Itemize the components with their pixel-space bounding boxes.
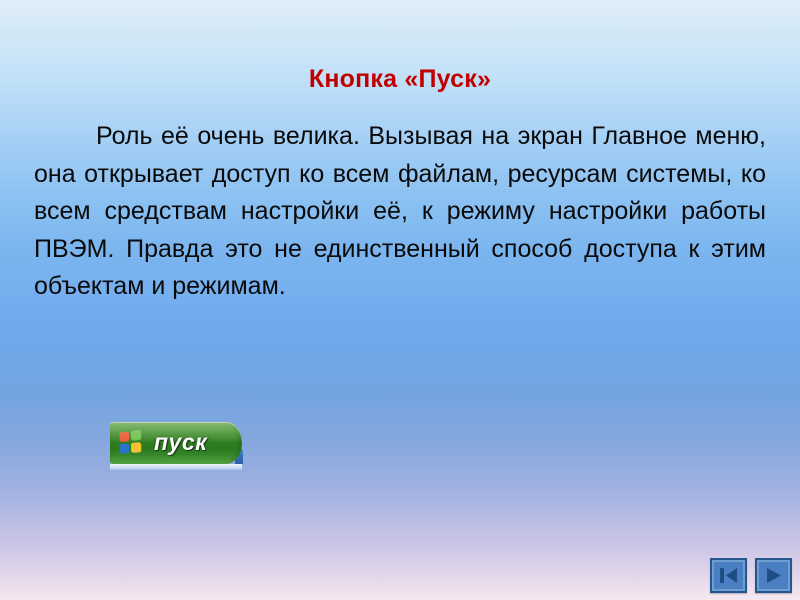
- start-button-label: пуск: [154, 428, 207, 456]
- slide-body-text: Роль её очень велика. Вызывая на экран Г…: [34, 118, 766, 306]
- windows-flag-icon: [120, 429, 144, 455]
- flag-quadrant-yellow: [131, 442, 141, 453]
- windows-start-button[interactable]: пуск: [110, 422, 242, 464]
- start-button-image: пуск: [110, 422, 242, 474]
- next-slide-button[interactable]: [755, 558, 792, 593]
- skip-previous-icon: [719, 567, 738, 584]
- presentation-slide: Кнопка «Пуск» Роль её очень велика. Вызы…: [0, 0, 800, 600]
- play-next-icon: [764, 567, 783, 584]
- flag-quadrant-green: [131, 429, 141, 441]
- slide-navigation: [710, 558, 792, 593]
- slide-title: Кнопка «Пуск»: [0, 64, 800, 94]
- previous-slide-button[interactable]: [710, 558, 747, 593]
- flag-quadrant-blue: [120, 443, 129, 454]
- start-button-base-strip: [110, 464, 242, 470]
- flag-quadrant-red: [120, 431, 129, 442]
